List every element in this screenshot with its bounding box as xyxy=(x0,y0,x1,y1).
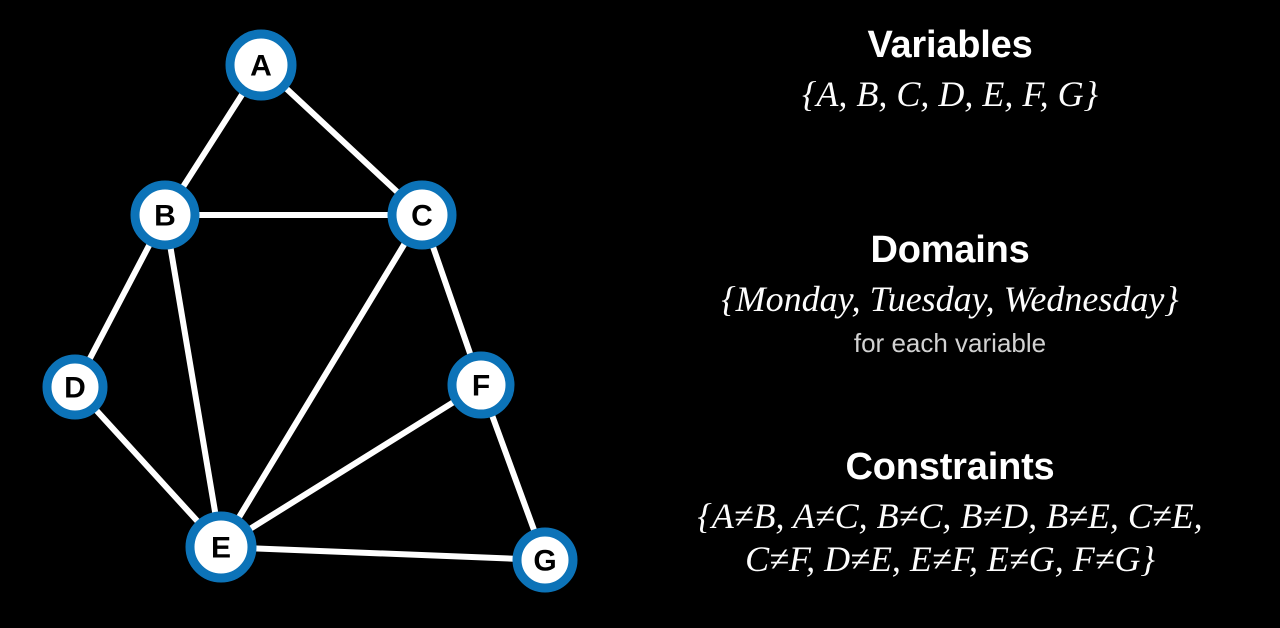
graph-node-d[interactable]: D xyxy=(47,359,103,415)
domains-block: Domains {Monday, Tuesday, Wednesday} for… xyxy=(620,229,1280,359)
slide-root: ABCDEFG Variables {A, B, C, D, E, F, G} … xyxy=(0,0,1280,628)
constraints-block: Constraints {A≠B, A≠C, B≠C, B≠D, B≠E, C≠… xyxy=(620,446,1280,581)
graph-node-label-g: G xyxy=(533,545,556,578)
graph-node-label-f: F xyxy=(472,370,490,403)
graph-edge-c-e xyxy=(221,215,422,547)
graph-nodes: ABCDEFG xyxy=(47,34,573,588)
constraint-graph-svg: ABCDEFG xyxy=(0,0,620,628)
graph-node-f[interactable]: F xyxy=(452,356,510,414)
graph-node-e[interactable]: E xyxy=(190,516,252,578)
graph-edges xyxy=(75,65,545,560)
graph-node-label-d: D xyxy=(64,372,86,405)
constraints-heading: Constraints xyxy=(620,446,1280,489)
domains-note: for each variable xyxy=(620,327,1280,360)
variables-set: {A, B, C, D, E, F, G} xyxy=(620,73,1280,116)
graph-node-a[interactable]: A xyxy=(230,34,292,96)
constraints-set-line-1: {A≠B, A≠C, B≠C, B≠D, B≠E, C≠E, xyxy=(620,495,1280,538)
graph-edge-e-f xyxy=(221,385,481,547)
constraints-set: {A≠B, A≠C, B≠C, B≠D, B≠E, C≠E, C≠F, D≠E,… xyxy=(620,495,1280,581)
domains-heading: Domains xyxy=(620,229,1280,272)
domains-set: {Monday, Tuesday, Wednesday} xyxy=(620,278,1280,321)
definitions-pane: Variables {A, B, C, D, E, F, G} Domains … xyxy=(620,0,1280,628)
constraint-graph-pane: ABCDEFG xyxy=(0,0,620,628)
constraints-set-line-2: C≠F, D≠E, E≠F, E≠G, F≠G} xyxy=(620,538,1280,581)
graph-node-b[interactable]: B xyxy=(135,185,195,245)
graph-node-label-e: E xyxy=(211,532,231,565)
variables-block: Variables {A, B, C, D, E, F, G} xyxy=(620,24,1280,116)
variables-heading: Variables xyxy=(620,24,1280,67)
graph-node-label-b: B xyxy=(154,200,176,233)
graph-node-c[interactable]: C xyxy=(392,185,452,245)
graph-node-g[interactable]: G xyxy=(517,532,573,588)
graph-node-label-a: A xyxy=(250,50,272,83)
graph-node-label-c: C xyxy=(411,200,433,233)
graph-edge-e-g xyxy=(221,547,545,560)
